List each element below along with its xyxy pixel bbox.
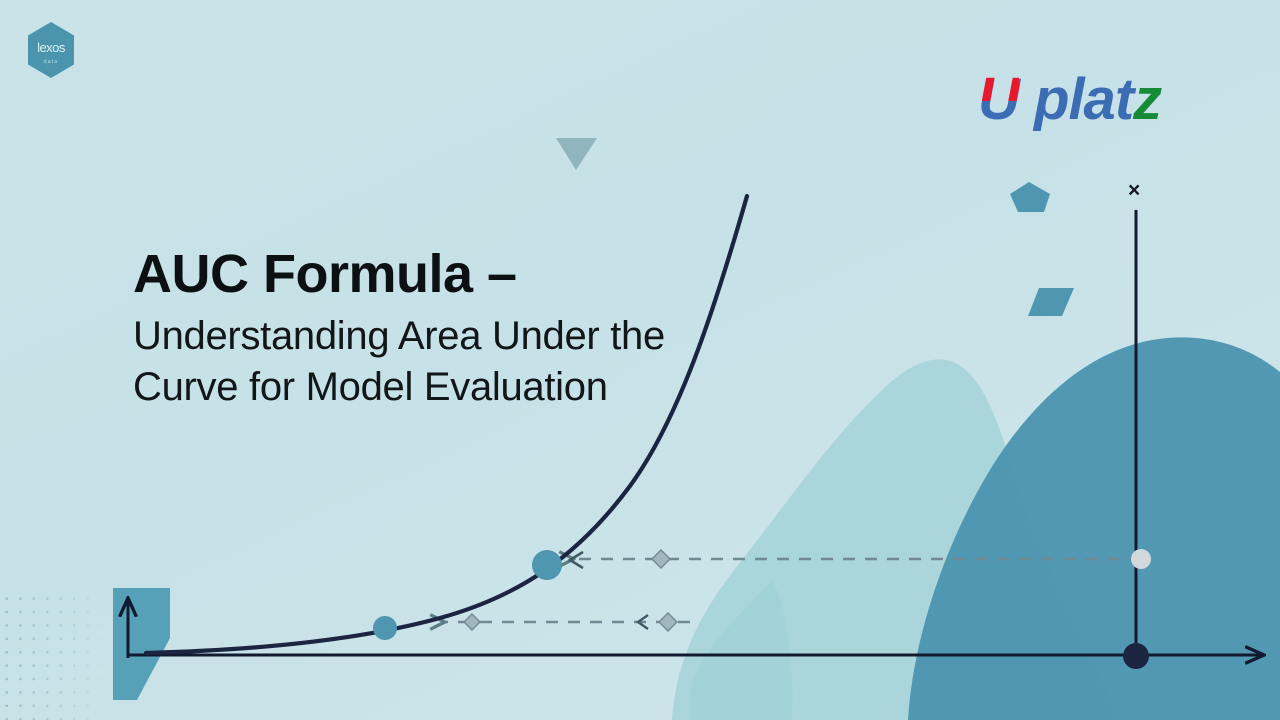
pentagon-shape: [1010, 182, 1050, 212]
hex-logo-subtext: data: [44, 59, 59, 65]
hex-logo-text: lexos: [37, 40, 66, 55]
page-title: AUC Formula –: [133, 243, 693, 305]
left-quad-shape: [113, 588, 170, 700]
lower-guide-diamond-2-icon: [659, 613, 677, 631]
lexos-hex-logo[interactable]: lexos data: [24, 20, 78, 80]
dot-grid-pattern: [0, 592, 110, 720]
slide-root: lexos data U U platz AUC Formula – Under…: [0, 0, 1280, 720]
parallelogram-shape: [1028, 288, 1074, 316]
curve-point-mid: [532, 550, 562, 580]
uplatz-letters-plat: plat: [1034, 67, 1133, 132]
close-icon: ×: [1128, 180, 1140, 201]
lower-guide-diamond-icon: [464, 614, 480, 630]
uplatz-letter-z: z: [1133, 67, 1161, 132]
page-subtitle: Understanding Area Under the Curve for M…: [133, 311, 693, 413]
uplatz-logo[interactable]: U U platz: [978, 68, 1210, 132]
curve-point-low: [373, 616, 397, 640]
axis-origin-dot: [1123, 643, 1149, 669]
upper-guide-diamond-icon: [652, 550, 670, 568]
triangle-down-shape: [556, 138, 597, 170]
threshold-dot: [1131, 549, 1151, 569]
uplatz-u-glyph: U: [978, 67, 1019, 132]
uplatz-letter-u: U U: [978, 67, 1034, 132]
title-block: AUC Formula – Understanding Area Under t…: [133, 243, 693, 413]
